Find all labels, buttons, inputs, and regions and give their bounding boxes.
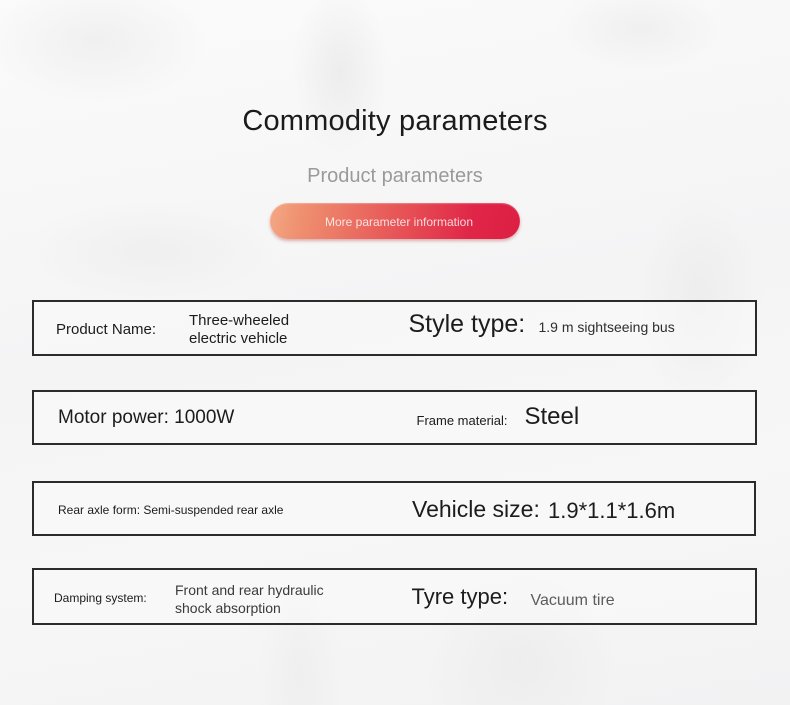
spec-value-line-1: Three-wheeled (189, 312, 289, 329)
spec-value-tyre-type: Vacuum tire (531, 592, 615, 610)
spec-value-frame-material: Steel (525, 403, 580, 431)
page-title: Commodity parameters (0, 103, 790, 139)
spec-cell-rear-axle-form: Rear axle form: Semi-suspended rear axle (34, 483, 394, 534)
spec-row: Motor power: 1000W Frame material: Steel (32, 390, 757, 445)
spec-cell-motor-power: Motor power: 1000W (34, 392, 395, 443)
spec-value-line-2: shock absorption (175, 600, 281, 616)
spec-label-vehicle-size: Vehicle size: (412, 496, 540, 523)
spec-label-product-name: Product Name: (56, 321, 156, 338)
spec-row: Damping system: Front and rear hydraulic… (32, 568, 757, 625)
spec-value-product-name: Three-wheeled electric vehicle (189, 312, 289, 348)
spec-value-damping-system: Front and rear hydraulic shock absorptio… (175, 581, 324, 617)
spec-value-line-2: electric vehicle (189, 330, 287, 347)
spec-value-line-1: Front and rear hydraulic (175, 582, 324, 598)
spec-cell-style-type: Style type: 1.9 m sightseeing bus (395, 302, 756, 354)
spec-cell-tyre-type: Tyre type: Vacuum tire (395, 570, 756, 623)
spec-cell-product-name: Product Name: Three-wheeled electric veh… (34, 302, 395, 354)
spec-cell-frame-material: Frame material: Steel (395, 392, 756, 443)
spec-value-vehicle-size: 1.9*1.1*1.6m (548, 498, 675, 524)
spec-cell-vehicle-size: Vehicle size: 1.9*1.1*1.6m (394, 483, 754, 534)
more-parameter-information-label: More parameter information (304, 215, 494, 230)
spec-label-style-type: Style type: (409, 310, 526, 339)
spec-value-style-type: 1.9 m sightseeing bus (539, 319, 675, 335)
spec-row: Rear axle form: Semi-suspended rear axle… (32, 481, 756, 536)
page-subtitle: Product parameters (0, 163, 790, 189)
spec-label-motor-power: Motor power: 1000W (58, 407, 234, 429)
spec-label-rear-axle-form: Rear axle form: Semi-suspended rear axle (58, 503, 283, 517)
more-parameter-information-button[interactable]: More parameter information (270, 203, 520, 239)
spec-cell-damping-system: Damping system: Front and rear hydraulic… (34, 570, 395, 623)
spec-row: Product Name: Three-wheeled electric veh… (32, 300, 757, 356)
spec-label-damping-system: Damping system: (54, 591, 147, 605)
spec-label-tyre-type: Tyre type: (412, 584, 509, 610)
spec-label-frame-material: Frame material: (417, 413, 508, 428)
